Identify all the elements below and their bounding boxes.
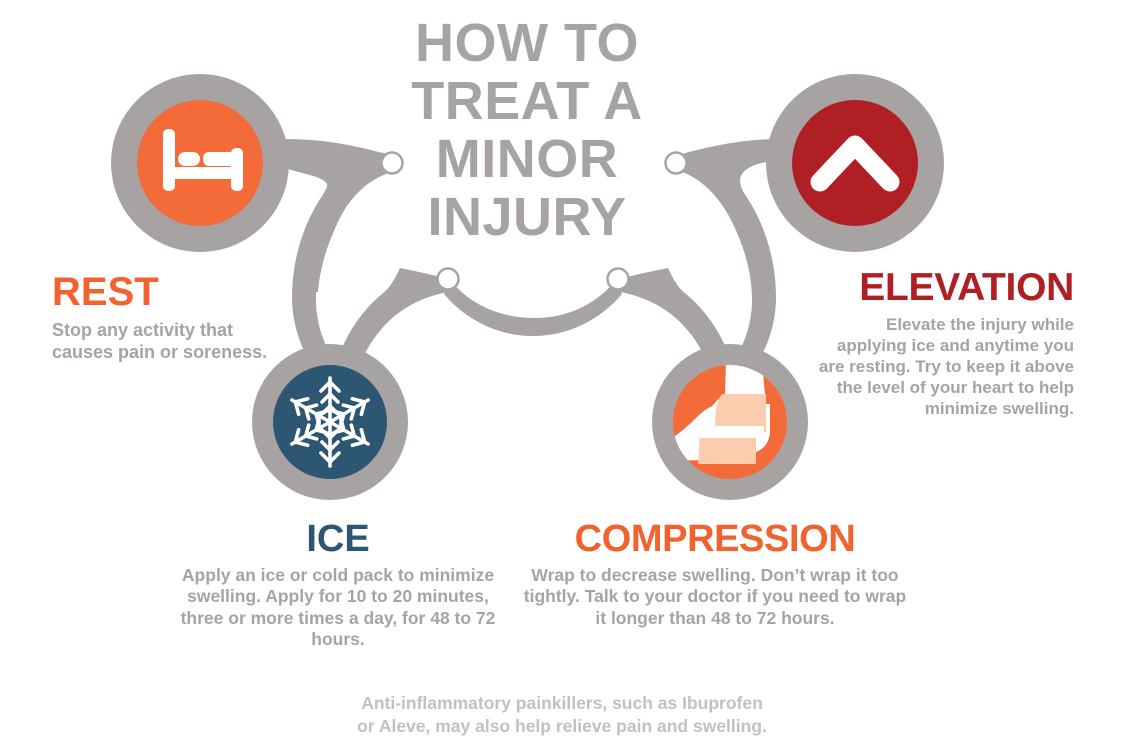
- step-heading-ice: ICE: [178, 520, 498, 559]
- elevation-circle-fill: [792, 100, 918, 226]
- step-body-elevation: Elevate the injury while applying ice an…: [812, 314, 1074, 419]
- infographic-canvas: HOW TO TREAT A MINOR INJURY REST Stop an…: [0, 0, 1125, 743]
- page-title: HOW TO TREAT A MINOR INJURY: [362, 14, 692, 246]
- step-body-ice: Apply an ice or cold pack to minimize sw…: [178, 565, 498, 651]
- page-title-line-3: MINOR: [362, 130, 692, 188]
- step-circle-elevation[interactable]: [766, 74, 944, 252]
- junction-dot-compression: [608, 269, 629, 290]
- step-body-rest: Stop any activity that causes pain or so…: [52, 319, 297, 363]
- step-circle-compression[interactable]: [652, 344, 808, 500]
- step-block-compression: COMPRESSION Wrap to decrease swelling. D…: [520, 520, 910, 629]
- step-heading-rest: REST: [52, 272, 297, 313]
- step-block-rest: REST Stop any activity that causes pain …: [52, 272, 297, 363]
- rest-circle-fill: [137, 100, 263, 226]
- footnote: Anti-inflammatory painkillers, such as I…: [222, 692, 902, 738]
- step-body-compression: Wrap to decrease swelling. Don’t wrap it…: [520, 565, 910, 630]
- footnote-line-2: or Aleve, may also help relieve pain and…: [222, 715, 902, 738]
- page-title-line-4: INJURY: [362, 188, 692, 246]
- step-block-ice: ICE Apply an ice or cold pack to minimiz…: [178, 520, 498, 651]
- page-title-line-1: HOW TO: [362, 14, 692, 72]
- step-circle-rest[interactable]: [111, 74, 289, 252]
- step-block-elevation: ELEVATION Elevate the injury while apply…: [812, 268, 1074, 419]
- footnote-line-1: Anti-inflammatory painkillers, such as I…: [222, 692, 902, 715]
- connector-bottom-arc: [444, 282, 622, 336]
- step-heading-elevation: ELEVATION: [812, 268, 1074, 308]
- step-circle-ice[interactable]: [252, 344, 408, 500]
- junction-dot-ice: [438, 269, 459, 290]
- page-title-line-2: TREAT A: [362, 72, 692, 130]
- step-heading-compression: COMPRESSION: [520, 520, 910, 559]
